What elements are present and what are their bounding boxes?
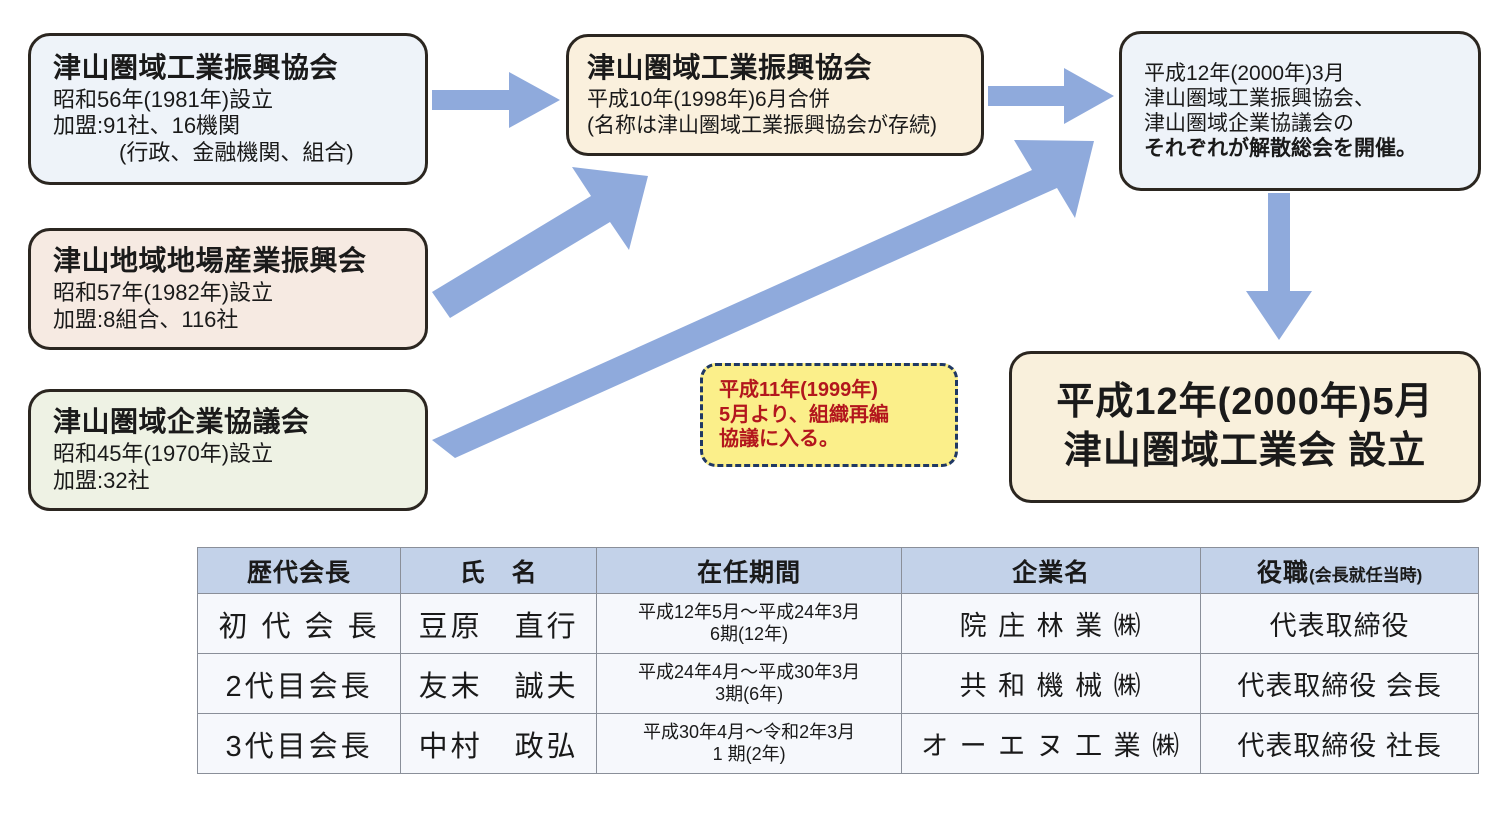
cell-role: 代表取締役 会長: [1201, 654, 1479, 714]
note-line-3: 協議に入る。: [719, 427, 955, 452]
table-header-ordinal-label: 歴代会長: [247, 559, 351, 587]
box-final-line-1: 平成12年(2000年)5月: [1056, 378, 1433, 427]
cell-role: 代表取締役: [1201, 594, 1479, 654]
cell-company: 院 庄 林 業 ㈱: [901, 594, 1201, 654]
cell-name: 友末 誠夫: [401, 654, 597, 714]
box-predecessor-1-line-3: (行政、金融機関、組合): [53, 140, 425, 166]
table-header-term: 在任期間: [597, 548, 902, 594]
arrow-box2-to-merged: [432, 167, 648, 318]
box-final-establishment: 平成12年(2000年)5月 津山圏域工業会 設立: [1009, 351, 1481, 503]
arrow-dissolution-to-final: [1246, 193, 1312, 340]
box-dissolution-meeting: 平成12年(2000年)3月 津山圏域工業振興協会、 津山圏域企業協議会の それ…: [1119, 31, 1481, 191]
box-predecessor-1-title: 津山圏域工業振興協会: [53, 52, 425, 83]
box-predecessor-2-line-2: 加盟:8組合、116社: [53, 307, 425, 333]
box-predecessor-1-line-2: 加盟:91社、16機関: [53, 113, 425, 139]
box-merged-line-1: 平成10年(1998年)6月合併: [587, 87, 981, 112]
table-header-name: 氏 名: [401, 548, 597, 594]
table-header-row: 歴代会長 氏 名 在任期間 企業名 役職(会長就任当時): [198, 548, 1479, 594]
box-merged-line-2: (名称は津山圏域工業振興協会が存続): [587, 113, 981, 138]
box-predecessor-3-title: 津山圏域企業協議会: [53, 406, 425, 437]
table-header-role: 役職(会長就任当時): [1201, 548, 1479, 594]
box-predecessor-3-line-1: 昭和45年(1970年)設立: [53, 441, 425, 467]
cell-company: 共 和 機 械 ㈱: [901, 654, 1201, 714]
table-header-ordinal: 歴代会長: [198, 548, 401, 594]
table-header-role-sublabel: (会長就任当時): [1309, 566, 1422, 585]
cell-term: 平成24年4月〜平成30年3月 3期(6年): [597, 654, 902, 714]
box-dissolution-line-1: 平成12年(2000年)3月: [1144, 61, 1478, 86]
table-row: 初 代 会 長 豆原 直行 平成12年5月〜平成24年3月 6期(12年) 院 …: [198, 594, 1479, 654]
cell-role: 代表取締役 社長: [1201, 714, 1479, 774]
box-final-line-2: 津山圏域工業会 設立: [1064, 427, 1427, 476]
box-predecessor-3: 津山圏域企業協議会 昭和45年(1970年)設立 加盟:32社: [28, 389, 428, 511]
cell-term: 平成30年4月〜令和2年3月 1 期(2年): [597, 714, 902, 774]
box-predecessor-1-line-1: 昭和56年(1981年)設立: [53, 87, 425, 113]
table-header-role-label: 役職: [1257, 559, 1309, 587]
cell-company: オ ー エ ヌ 工 業 ㈱: [901, 714, 1201, 774]
cell-ordinal: 初 代 会 長: [198, 594, 401, 654]
box-dissolution-line-4: それぞれが解散総会を開催。: [1144, 136, 1478, 161]
arrow-merged-to-dissolution: [988, 68, 1114, 124]
box-dissolution-line-3: 津山圏域企業協議会の: [1144, 111, 1478, 136]
box-predecessor-2: 津山地域地場産業振興会 昭和57年(1982年)設立 加盟:8組合、116社: [28, 228, 428, 350]
table-header-name-label: 氏 名: [460, 559, 538, 587]
cell-ordinal: 2代目会長: [198, 654, 401, 714]
cell-name: 中村 政弘: [401, 714, 597, 774]
chairmen-table: 歴代会長 氏 名 在任期間 企業名 役職(会長就任当時) 初 代 会 長 豆原: [197, 547, 1479, 774]
note-line-1: 平成11年(1999年): [719, 378, 955, 403]
box-predecessor-1: 津山圏域工業振興協会 昭和56年(1981年)設立 加盟:91社、16機関 (行…: [28, 33, 428, 185]
table-row: 3代目会長 中村 政弘 平成30年4月〜令和2年3月 1 期(2年) オ ー エ…: [198, 714, 1479, 774]
table-header-company-label: 企業名: [1012, 559, 1090, 587]
table-row: 2代目会長 友末 誠夫 平成24年4月〜平成30年3月 3期(6年) 共 和 機…: [198, 654, 1479, 714]
table-header-term-label: 在任期間: [697, 559, 801, 587]
cell-name: 豆原 直行: [401, 594, 597, 654]
note-reorganization: 平成11年(1999年) 5月より、組織再編 協議に入る。: [700, 363, 958, 467]
box-merged-title: 津山圏域工業振興協会: [587, 52, 981, 83]
box-predecessor-2-line-1: 昭和57年(1982年)設立: [53, 280, 425, 306]
diagram-canvas: 津山圏域工業振興協会 昭和56年(1981年)設立 加盟:91社、16機関 (行…: [0, 0, 1509, 818]
arrow-box1-to-merged: [432, 72, 560, 128]
box-merged-association: 津山圏域工業振興協会 平成10年(1998年)6月合併 (名称は津山圏域工業振興…: [566, 34, 984, 156]
cell-term: 平成12年5月〜平成24年3月 6期(12年): [597, 594, 902, 654]
box-predecessor-2-title: 津山地域地場産業振興会: [53, 245, 425, 276]
table-header-company: 企業名: [901, 548, 1201, 594]
box-dissolution-line-2: 津山圏域工業振興協会、: [1144, 86, 1478, 111]
box-predecessor-3-line-2: 加盟:32社: [53, 468, 425, 494]
cell-ordinal: 3代目会長: [198, 714, 401, 774]
note-line-2: 5月より、組織再編: [719, 403, 955, 428]
